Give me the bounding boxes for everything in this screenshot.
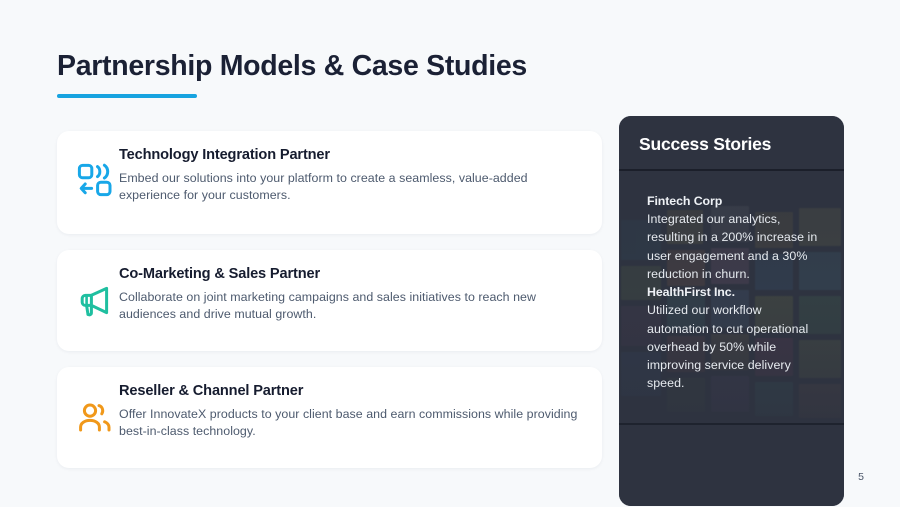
card-title: Technology Integration Partner bbox=[119, 147, 580, 165]
success-stories-list: Fintech Corp Integrated our analytics, r… bbox=[647, 192, 823, 393]
partnership-card-technology-integration[interactable]: Technology Integration Partner Embed our… bbox=[57, 131, 602, 234]
partnership-cards-list: Technology Integration Partner Embed our… bbox=[57, 131, 602, 468]
story-description: Integrated our analytics, resulting in a… bbox=[647, 210, 823, 283]
partnership-card-reseller-channel[interactable]: Reseller & Channel Partner Offer Innovat… bbox=[57, 367, 602, 468]
card-description: Embed our solutions into your platform t… bbox=[119, 170, 580, 205]
story-description: Utilized our workflow automation to cut … bbox=[647, 301, 823, 392]
megaphone-icon bbox=[75, 281, 115, 321]
card-description: Offer InnovateX products to your client … bbox=[119, 406, 580, 441]
card-title: Co-Marketing & Sales Partner bbox=[119, 266, 580, 284]
panel-header-divider bbox=[619, 169, 844, 171]
page-title: Partnership Models & Case Studies bbox=[57, 50, 657, 83]
panel-footer-divider bbox=[619, 423, 844, 425]
title-accent-underline bbox=[57, 94, 197, 98]
story-company-name: HealthFirst Inc. bbox=[647, 283, 823, 301]
card-description: Collaborate on joint marketing campaigns… bbox=[119, 289, 580, 324]
title-block: Partnership Models & Case Studies bbox=[57, 50, 657, 98]
story-item-healthfirst-inc: HealthFirst Inc. Utilized our workflow a… bbox=[647, 283, 823, 392]
users-icon bbox=[75, 398, 115, 438]
story-company-name: Fintech Corp bbox=[647, 192, 823, 210]
page-number: 5 bbox=[858, 471, 864, 483]
api-integration-icon bbox=[75, 160, 115, 200]
card-title: Reseller & Channel Partner bbox=[119, 383, 580, 401]
success-stories-heading: Success Stories bbox=[639, 134, 771, 155]
success-stories-panel: Success Stories Fintech Corp Integrated … bbox=[619, 116, 844, 506]
partnership-card-co-marketing-sales[interactable]: Co-Marketing & Sales Partner Collaborate… bbox=[57, 250, 602, 351]
story-item-fintech-corp: Fintech Corp Integrated our analytics, r… bbox=[647, 192, 823, 283]
slide-root: Partnership Models & Case Studies Techno… bbox=[0, 0, 900, 507]
